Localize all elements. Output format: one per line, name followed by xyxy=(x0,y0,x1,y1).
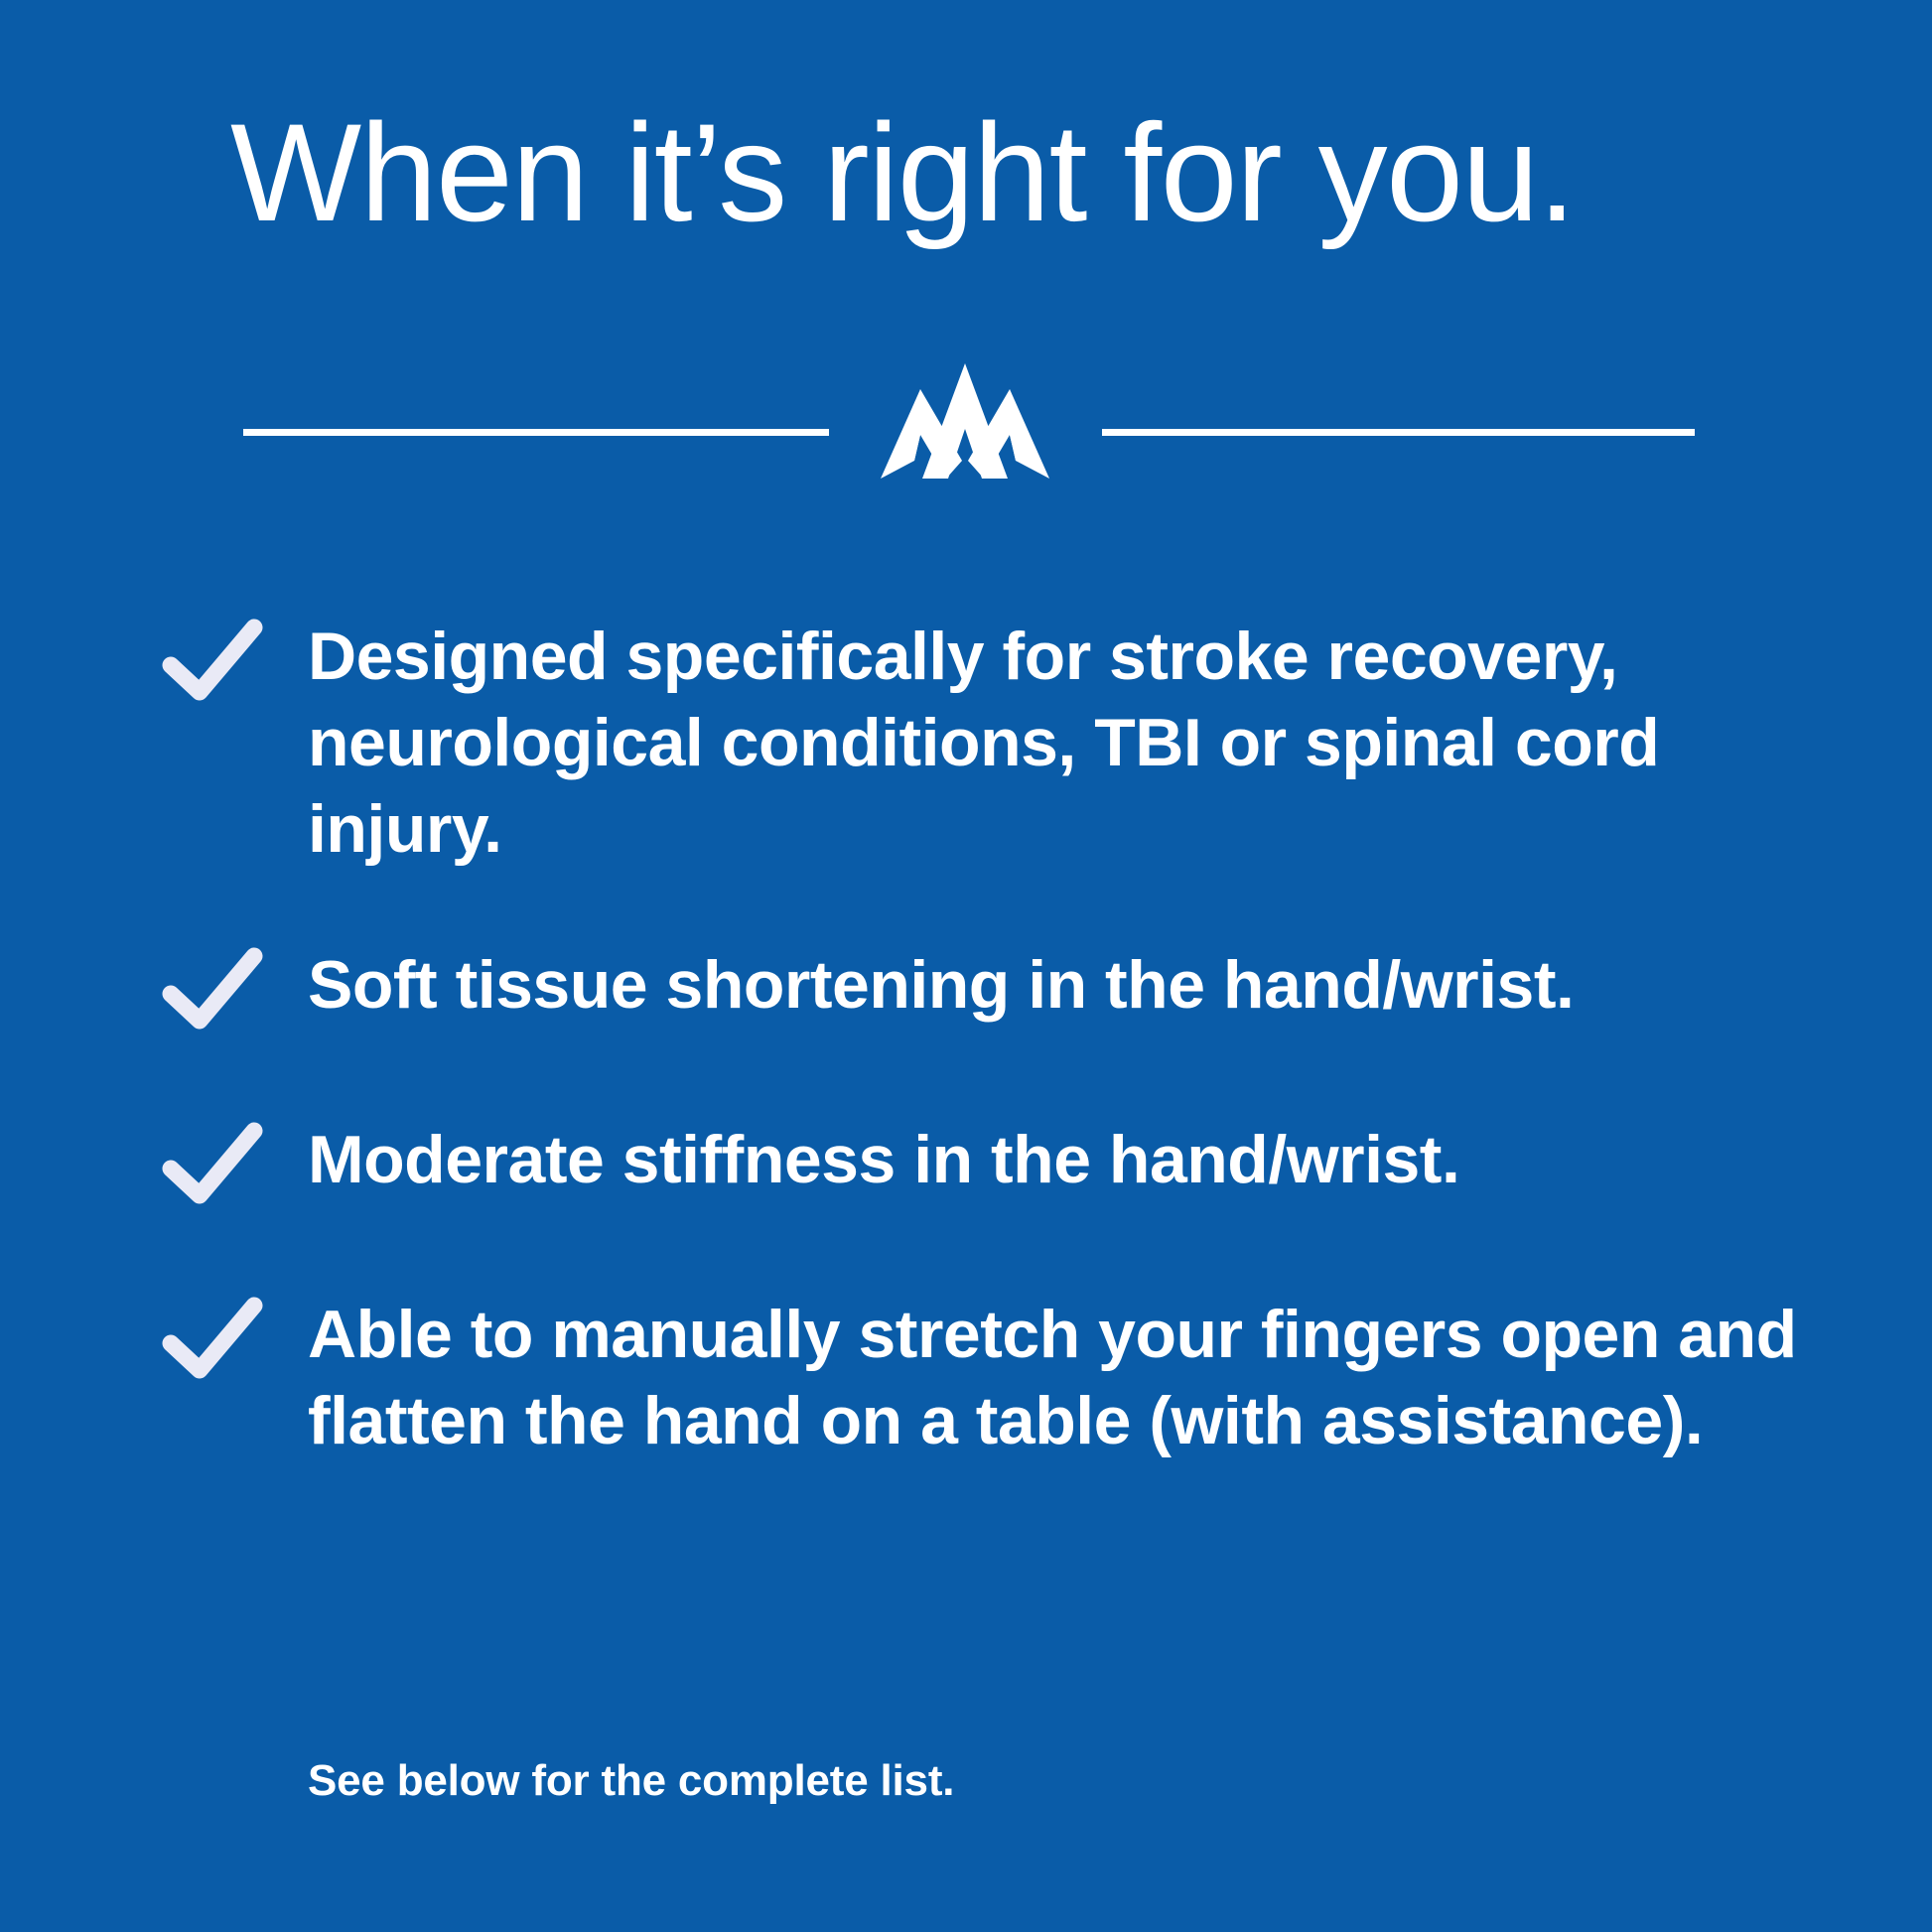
divider-rule-right xyxy=(1102,429,1695,436)
list-item: Able to manually stretch your fingers op… xyxy=(157,1292,1845,1464)
list-item-label: Moderate stiffness in the hand/wrist. xyxy=(308,1117,1845,1203)
promo-card: When it’s right for you. xyxy=(0,0,1932,1932)
check-icon xyxy=(157,1286,268,1397)
list-item-label: Able to manually stretch your fingers op… xyxy=(308,1292,1845,1464)
list-item: Moderate stiffness in the hand/wrist. xyxy=(157,1117,1845,1222)
divider-rule-left xyxy=(243,429,829,436)
page-title: When it’s right for you. xyxy=(230,103,1839,242)
list-item: Designed specifically for stroke recover… xyxy=(157,614,1845,873)
divider xyxy=(243,357,1695,506)
brand-logo xyxy=(859,357,1072,506)
check-icon xyxy=(157,608,268,719)
list-item-label: Soft tissue shortening in the hand/wrist… xyxy=(308,942,1845,1029)
list-item-label: Designed specifically for stroke recover… xyxy=(308,614,1845,873)
footer-note: See below for the complete list. xyxy=(308,1755,954,1808)
check-icon xyxy=(157,936,268,1047)
check-icon xyxy=(157,1111,268,1222)
list-item: Soft tissue shortening in the hand/wrist… xyxy=(157,942,1845,1047)
mountain-peaks-icon xyxy=(859,357,1072,506)
checklist: Designed specifically for stroke recover… xyxy=(157,614,1845,1464)
